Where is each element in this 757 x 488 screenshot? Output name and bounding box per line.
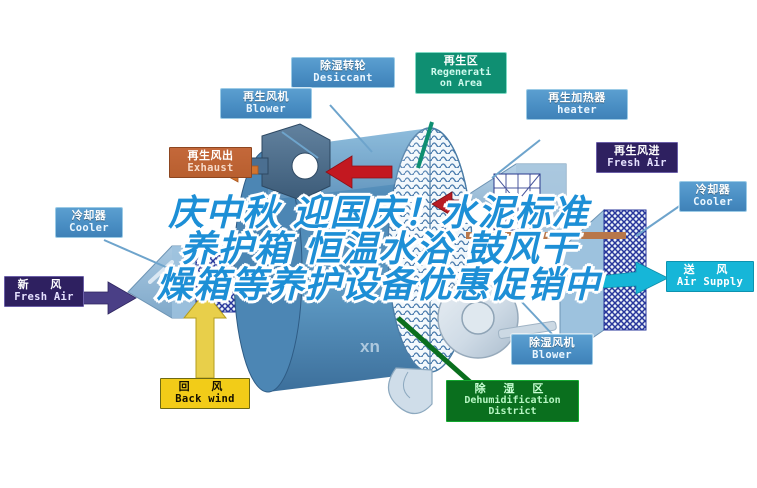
- label-regeneration-area-cn: 再生区: [421, 55, 501, 67]
- label-desiccant-wheel-cn: 除湿转轮: [297, 60, 389, 72]
- label-desiccant-wheel[interactable]: 除湿转轮 Desiccant: [291, 57, 395, 88]
- diagram-canvas: xn: [0, 0, 757, 488]
- label-regeneration-fresh-air-in[interactable]: 再生风进 Fresh Air: [596, 142, 678, 173]
- label-regeneration-heater[interactable]: 再生加热器 heater: [526, 89, 628, 120]
- label-dehumidification-blower[interactable]: 除湿风机 Blower: [511, 334, 593, 365]
- label-back-wind-en: Back wind: [166, 394, 244, 405]
- label-regeneration-fresh-air-in-en: Fresh Air: [602, 158, 672, 169]
- label-regeneration-blower[interactable]: 再生风机 Blower: [220, 88, 312, 119]
- label-cooler-left[interactable]: 冷却器 Cooler: [55, 207, 123, 238]
- label-back-wind[interactable]: 回 风 Back wind: [160, 378, 250, 409]
- label-cooler-left-en: Cooler: [61, 223, 117, 234]
- label-regeneration-area[interactable]: 再生区 Regenerati on Area: [415, 52, 507, 94]
- label-regeneration-heater-cn: 再生加热器: [532, 92, 622, 104]
- label-dehumidification-district-cn: 除 湿 区: [452, 383, 573, 395]
- label-cooler-right-cn: 冷却器: [685, 184, 741, 196]
- label-air-supply-en: Air Supply: [672, 277, 748, 288]
- label-regeneration-exhaust-cn: 再生风出: [175, 150, 246, 162]
- label-air-supply-cn: 送 风: [672, 264, 748, 276]
- label-desiccant-wheel-en: Desiccant: [297, 73, 389, 84]
- label-regeneration-area-en-line1: Regenerati: [421, 68, 501, 79]
- label-regeneration-heater-en: heater: [532, 105, 622, 116]
- label-fresh-air-inlet[interactable]: 新 风 Fresh Air: [4, 276, 84, 307]
- label-cooler-right[interactable]: 冷却器 Cooler: [679, 181, 747, 212]
- label-back-wind-cn: 回 风: [166, 381, 244, 393]
- label-dehumidification-district-en-line2: District: [452, 407, 573, 418]
- label-regeneration-blower-en: Blower: [226, 104, 306, 115]
- bottom-duct-component: [388, 368, 432, 414]
- svg-text:xn: xn: [360, 337, 380, 356]
- label-regeneration-exhaust[interactable]: 再生风出 Exhaust: [169, 147, 252, 178]
- label-dehumidification-district[interactable]: 除 湿 区 Dehumidification District: [446, 380, 579, 422]
- fresh-air-arrow: [80, 282, 136, 314]
- label-regeneration-exhaust-en: Exhaust: [175, 163, 246, 174]
- label-cooler-right-en: Cooler: [685, 197, 741, 208]
- label-dehumidification-blower-en: Blower: [517, 350, 587, 361]
- label-regeneration-blower-cn: 再生风机: [226, 91, 306, 103]
- label-fresh-air-inlet-cn: 新 风: [10, 279, 78, 291]
- label-air-supply[interactable]: 送 风 Air Supply: [666, 261, 754, 292]
- label-regeneration-area-en-line2: on Area: [421, 79, 501, 90]
- label-fresh-air-inlet-en: Fresh Air: [10, 292, 78, 303]
- label-dehumidification-district-en-line1: Dehumidification: [452, 396, 573, 407]
- label-regeneration-fresh-air-in-cn: 再生风进: [602, 145, 672, 157]
- label-cooler-left-cn: 冷却器: [61, 210, 117, 222]
- label-dehumidification-blower-cn: 除湿风机: [517, 337, 587, 349]
